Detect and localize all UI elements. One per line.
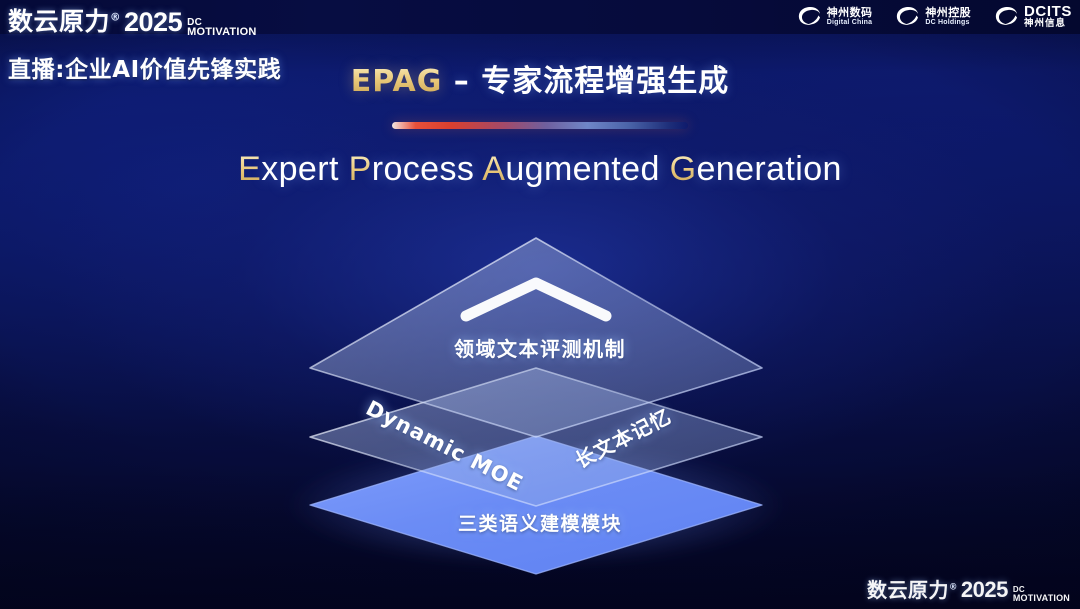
- watermark-subtitle: DC MOTIVATION: [1013, 586, 1070, 602]
- partner-name-en: DC Holdings: [925, 19, 971, 26]
- partner-logo-dc-holdings: 神州控股 DC Holdings: [894, 5, 971, 27]
- brand-logo-year: 2025: [124, 7, 182, 38]
- partner-logo-dcits: DCITS 神州信息: [993, 4, 1072, 29]
- watermark-year: 2025: [961, 577, 1008, 603]
- title-chinese: 专家流程增强生成: [481, 64, 729, 99]
- brand-logo-subtitle: DC MOTIVATION: [187, 18, 256, 37]
- title-acronym: EPAG: [351, 64, 443, 99]
- corner-brand-watermark: 数云原力® 2025 DC MOTIVATION: [867, 574, 1070, 603]
- subtitle-word-process: Process: [349, 150, 483, 188]
- subtitle-word-augmented: Augmented: [482, 150, 669, 188]
- page-subtitle: Expert Process Augmented Generation: [0, 150, 1080, 189]
- partner-name-en: 神州信息: [1024, 19, 1072, 29]
- brand-logo: 数云原力® 2025 DC MOTIVATION: [8, 2, 257, 38]
- swoosh-icon: [894, 5, 920, 27]
- partner-name-en: Digital China: [827, 19, 873, 26]
- slide-canvas: 领域文本评测机制 Dynamic MOE 长文本记忆 三类语义建模模块 EPAG…: [0, 0, 1080, 609]
- partner-name-cn: 神州控股: [925, 7, 971, 18]
- partner-name-cn: DCITS: [1024, 4, 1072, 19]
- live-broadcast-title: 直播:企业AI价值先锋实践: [8, 50, 281, 84]
- layer-top[interactable]: [310, 238, 762, 437]
- swoosh-icon: [796, 5, 822, 27]
- partner-logo-digital-china: 神州数码 Digital China: [796, 5, 873, 27]
- subtitle-word-expert: Expert: [238, 150, 349, 188]
- brand-logo-cn: 数云原力®: [8, 2, 121, 38]
- partner-logo-group: 神州数码 Digital China 神州控股 DC Holdings DCIT…: [796, 4, 1072, 29]
- swoosh-icon: [993, 5, 1019, 27]
- title-dash: –: [442, 64, 481, 99]
- watermark-cn: 数云原力®: [867, 574, 958, 603]
- title-divider: [392, 122, 688, 129]
- subtitle-word-generation: Generation: [670, 150, 842, 188]
- partner-name-cn: 神州数码: [827, 7, 873, 18]
